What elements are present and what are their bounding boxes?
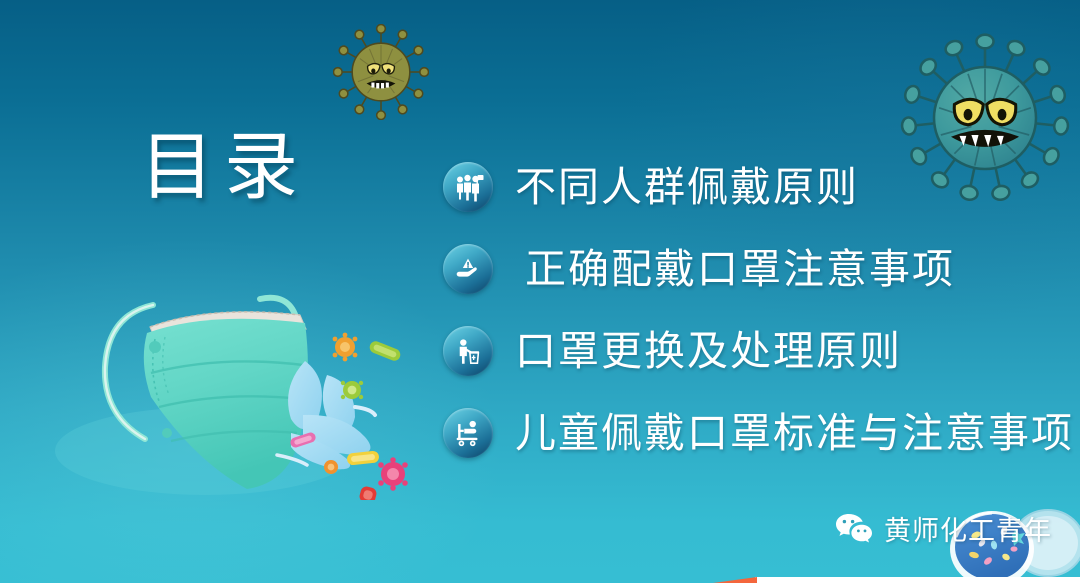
agenda-item-3[interactable]: 口罩更换及处理原则 <box>443 310 1063 392</box>
agenda-item-label: 儿童佩戴口罩标准与注意事项 <box>515 413 1074 454</box>
agenda-item-label: 不同人群佩戴原则 <box>515 167 859 208</box>
agenda-item-label: 口罩更换及处理原则 <box>515 331 902 372</box>
surgical-mask-illustration <box>55 255 415 500</box>
agenda-item-1[interactable]: 不同人群佩戴原则 <box>443 146 1063 228</box>
virus-olive-icon <box>333 24 429 120</box>
person-trash-icon <box>443 326 493 376</box>
people-group-icon <box>443 162 493 212</box>
agenda-list: 不同人群佩戴原则 正确配戴口罩注意事项 <box>443 146 1063 474</box>
hand-warning-icon <box>443 244 493 294</box>
child-scooter-icon <box>443 408 493 458</box>
presentation-slide: 目录 <box>0 0 1080 583</box>
page-title: 目录 <box>140 128 308 209</box>
watermark: 黄师化工青年 <box>834 509 1052 548</box>
agenda-item-2[interactable]: 正确配戴口罩注意事项 <box>443 228 1063 310</box>
slide-bottom-edge <box>755 577 1080 583</box>
wechat-icon <box>834 512 874 546</box>
agenda-item-4[interactable]: 儿童佩戴口罩标准与注意事项 <box>443 392 1063 474</box>
agenda-item-label: 正确配戴口罩注意事项 <box>525 249 955 290</box>
watermark-text: 黄师化工青年 <box>884 509 1052 548</box>
